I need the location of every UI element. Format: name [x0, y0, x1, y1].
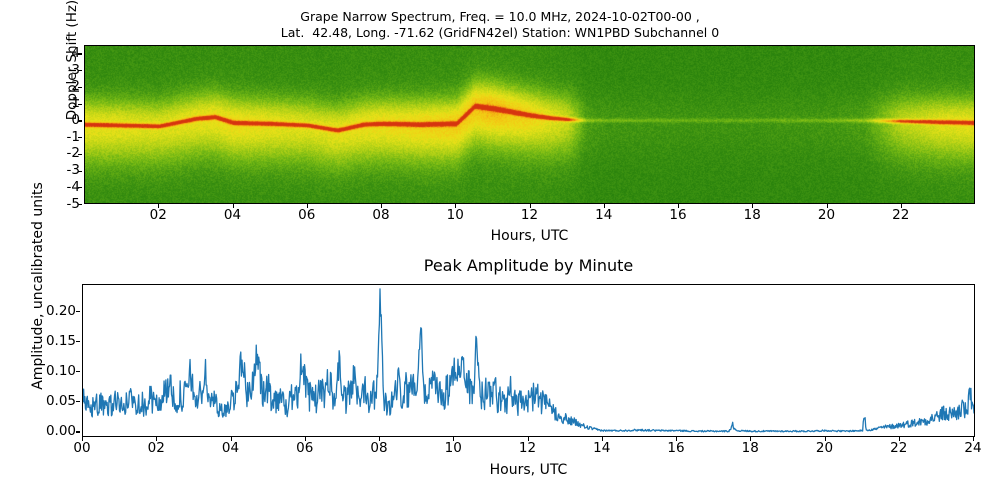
- spectrogram-axes: [84, 45, 975, 204]
- spectrogram-x-tick: 22: [892, 207, 909, 223]
- line-plot-x-tick-labels: 00020406081012141618202224: [82, 440, 975, 462]
- line-plot-y-tick-mark: [76, 401, 80, 402]
- line-plot-x-tick: 08: [370, 440, 387, 456]
- spectrogram-y-tick-mark: [78, 70, 82, 71]
- figure-canvas: Grape Narrow Spectrum, Freq. = 10.0 MHz,…: [0, 0, 1000, 500]
- spectrogram-x-tick-mark: [233, 204, 234, 208]
- line-plot-x-tick-mark: [602, 437, 603, 441]
- spectrogram-x-tick: 16: [669, 207, 686, 223]
- line-plot-x-tick-mark: [676, 437, 677, 441]
- spectrogram-x-tick: 10: [447, 207, 464, 223]
- spectrogram-y-tick-mark: [78, 187, 82, 188]
- spectrogram-y-tick-mark: [78, 53, 82, 54]
- line-plot-y-tick-mark: [76, 341, 80, 342]
- line-plot-x-tick-mark: [82, 437, 83, 441]
- figure-suptitle: Grape Narrow Spectrum, Freq. = 10.0 MHz,…: [0, 9, 1000, 41]
- line-plot-y-tick: 0.10: [46, 365, 76, 379]
- spectrogram-x-tick: 18: [744, 207, 761, 223]
- line-plot-x-tick-mark: [528, 437, 529, 441]
- line-plot-y-tick-labels: 0.000.050.100.150.20: [24, 284, 76, 437]
- spectrogram-x-tick-mark: [307, 204, 308, 208]
- spectrogram-x-tick: 02: [150, 207, 167, 223]
- spectrogram-x-tick-mark: [752, 204, 753, 208]
- spectrogram-x-tick: 06: [298, 207, 315, 223]
- spectrogram-image: [85, 46, 975, 204]
- spectrogram-y-tick-mark: [78, 204, 82, 205]
- line-plot-y-tick-mark: [76, 371, 80, 372]
- line-plot-x-tick: 00: [73, 440, 90, 456]
- spectrogram-x-tick-mark: [381, 204, 382, 208]
- line-plot-x-tick-mark: [305, 437, 306, 441]
- line-plot-x-tick-mark: [973, 437, 974, 441]
- line-plot-x-tick: 24: [964, 440, 981, 456]
- line-plot-x-tick-mark: [156, 437, 157, 441]
- line-plot-x-tick-mark: [453, 437, 454, 441]
- spectrogram-y-tick-mark: [78, 171, 82, 172]
- peak-amplitude-line: [83, 289, 974, 432]
- spectrogram-y-tick-mark: [78, 137, 82, 138]
- spectrogram-x-tick: 12: [521, 207, 538, 223]
- line-plot-series-svg: [83, 285, 974, 436]
- line-plot-x-tick: 02: [148, 440, 165, 456]
- line-plot-title: Peak Amplitude by Minute: [82, 256, 975, 275]
- line-plot-y-tick: 0.15: [46, 335, 76, 349]
- line-plot-x-tick-mark: [379, 437, 380, 441]
- line-plot-x-tick-mark: [899, 437, 900, 441]
- line-plot-y-tick: 0.00: [46, 425, 76, 439]
- spectrogram-y-tick-mark: [78, 87, 82, 88]
- line-plot-axes: [82, 284, 975, 437]
- spectrogram-x-axis-label: Hours, UTC: [84, 228, 975, 244]
- spectrogram-x-tick: 08: [372, 207, 389, 223]
- spectrogram-x-tick-mark: [901, 204, 902, 208]
- line-plot-x-tick: 18: [742, 440, 759, 456]
- spectrogram-x-tick-mark: [158, 204, 159, 208]
- line-plot-x-tick-mark: [750, 437, 751, 441]
- line-plot-y-tick: 0.05: [46, 395, 76, 409]
- spectrogram-y-tick-mark: [78, 154, 82, 155]
- line-plot-x-tick-mark: [231, 437, 232, 441]
- line-plot-x-tick: 12: [519, 440, 536, 456]
- suptitle-line-1: Grape Narrow Spectrum, Freq. = 10.0 MHz,…: [0, 9, 1000, 25]
- line-plot-x-tick: 04: [222, 440, 239, 456]
- line-plot-y-tick: 0.20: [46, 305, 76, 319]
- spectrogram-y-tick-mark: [78, 120, 82, 121]
- spectrogram-x-tick: 14: [595, 207, 612, 223]
- line-plot-x-tick: 16: [667, 440, 684, 456]
- line-plot-y-tick-mark: [76, 431, 80, 432]
- spectrogram-x-tick: 20: [818, 207, 835, 223]
- line-plot-y-tick-mark: [76, 311, 80, 312]
- line-plot-x-tick: 22: [890, 440, 907, 456]
- line-plot-x-tick: 10: [445, 440, 462, 456]
- spectrogram-y-tick-mark: [78, 104, 82, 105]
- line-plot-x-axis-label: Hours, UTC: [82, 462, 975, 478]
- spectrogram-x-tick: 04: [224, 207, 241, 223]
- line-plot-x-tick: 14: [593, 440, 610, 456]
- line-plot-x-tick: 06: [296, 440, 313, 456]
- spectrogram-x-tick-mark: [530, 204, 531, 208]
- spectrogram-x-tick-mark: [827, 204, 828, 208]
- spectrogram-x-tick-mark: [455, 204, 456, 208]
- spectrogram-x-tick-labels: 0204060810121416182022: [84, 207, 975, 229]
- suptitle-line-2: Lat. 42.48, Long. -71.62 (GridFN42el) St…: [0, 25, 1000, 41]
- spectrogram-x-tick-mark: [604, 204, 605, 208]
- line-plot-x-tick: 20: [816, 440, 833, 456]
- spectrogram-x-tick-mark: [678, 204, 679, 208]
- line-plot-x-tick-mark: [825, 437, 826, 441]
